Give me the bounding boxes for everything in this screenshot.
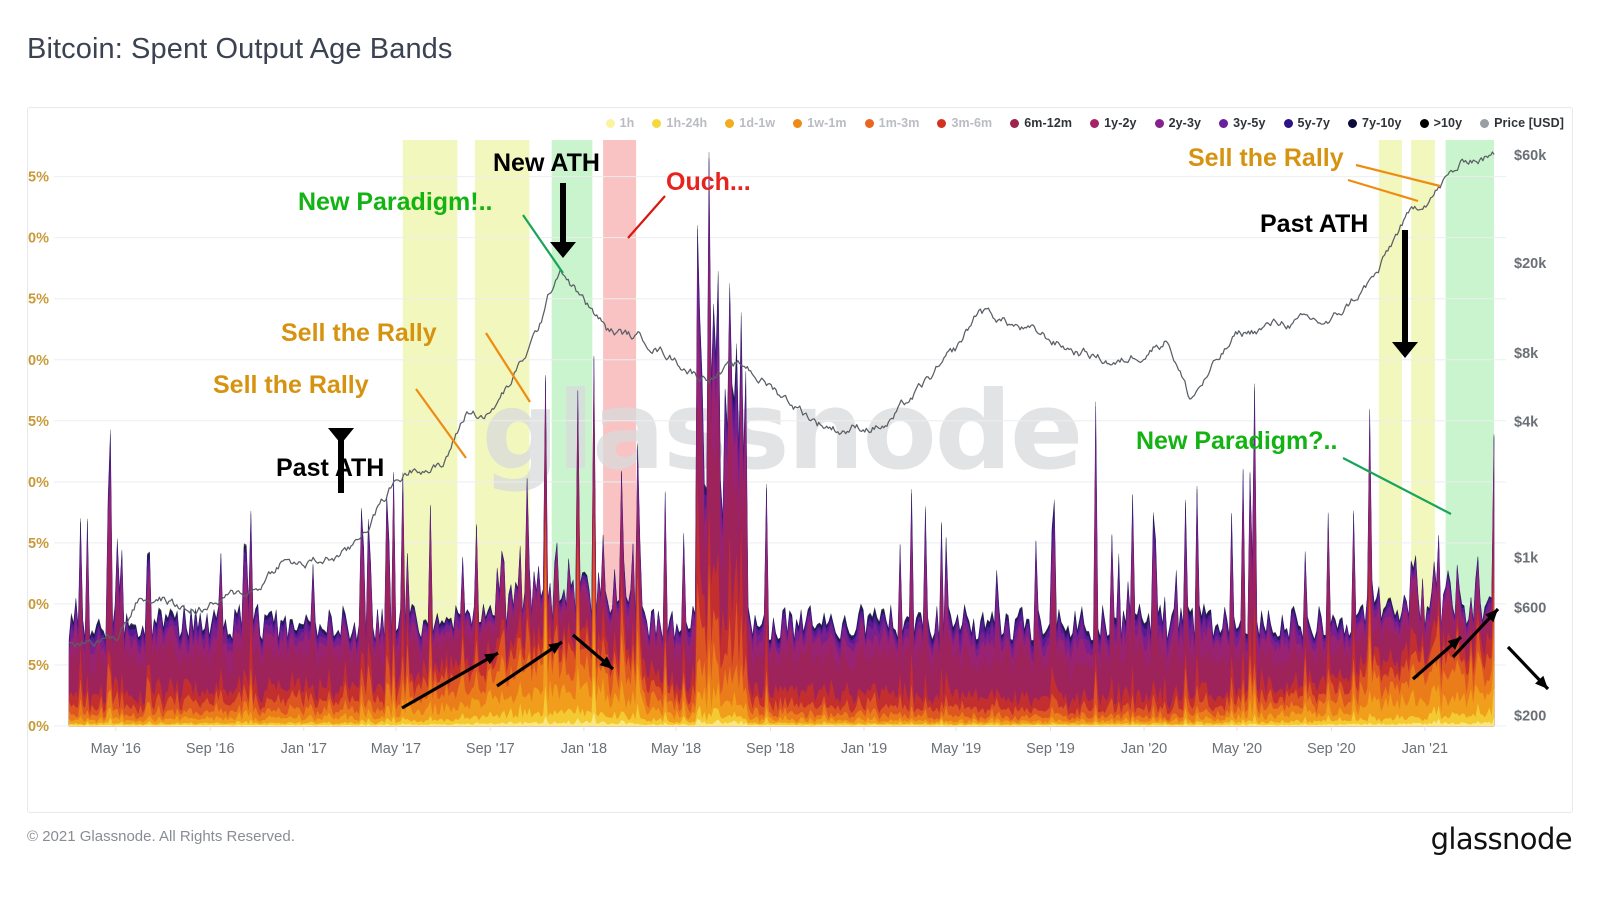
annotation-sell-rally-1: Sell the Rally <box>281 319 437 347</box>
annotation-past-ath-1: Past ATH <box>276 454 384 482</box>
y-axis-right-tick: $20k <box>1514 256 1547 272</box>
x-axis-tick: Jan '17 <box>281 741 327 757</box>
y-axis-left-tick: 30% <box>28 353 49 369</box>
x-axis-tick: Sep '18 <box>746 741 795 757</box>
y-axis-left: 0%5%10%15%20%25%30%35%40%45% <box>28 170 49 735</box>
x-axis-tick: Jan '20 <box>1121 741 1167 757</box>
x-axis-tick: Jan '19 <box>841 741 887 757</box>
chart-plot-area[interactable]: glassnode0%5%10%15%20%25%30%35%40%45%$20… <box>28 108 1572 812</box>
annotation-sell-rally-2: Sell the Rally <box>213 371 369 399</box>
x-axis-tick: Sep '20 <box>1307 741 1356 757</box>
x-axis-tick: Sep '17 <box>466 741 515 757</box>
annotation-past-ath-1-arrow-head <box>328 428 354 444</box>
x-axis-tick: Jan '18 <box>561 741 607 757</box>
y-axis-left-tick: 10% <box>28 597 49 613</box>
watermark: glassnode <box>482 369 1081 494</box>
y-axis-left-tick: 15% <box>28 536 49 552</box>
chart-page: Bitcoin: Spent Output Age Bands 1h1h-24h… <box>0 0 1600 901</box>
chart-card: 1h1h-24h1d-1w1w-1m1m-3m3m-6m6m-12m1y-2y2… <box>27 107 1573 813</box>
y-axis-right-tick: $200 <box>1514 709 1546 725</box>
spent-output-age-bands-svg[interactable]: glassnode0%5%10%15%20%25%30%35%40%45%$20… <box>28 108 1572 812</box>
annotation-new-ath: New ATH <box>493 149 600 177</box>
y-axis-right-tick: $1k <box>1514 550 1539 566</box>
annotation-new-paradigm-1: New Paradigm!.. <box>298 188 493 216</box>
x-axis-tick: Sep '16 <box>186 741 235 757</box>
y-axis-left-tick: 45% <box>28 170 49 186</box>
annotation-new-paradigm-2: New Paradigm?.. <box>1136 427 1337 455</box>
x-axis-tick: May '19 <box>931 741 981 757</box>
y-axis-left-tick: 20% <box>28 475 49 491</box>
y-axis-left-tick: 5% <box>28 658 49 674</box>
y-axis-left-tick: 25% <box>28 414 49 430</box>
watermark-text: glassnode <box>482 369 1081 494</box>
page-title: Bitcoin: Spent Output Age Bands <box>27 33 453 66</box>
y-axis-right-tick: $8k <box>1514 346 1539 362</box>
copyright-text: © 2021 Glassnode. All Rights Reserved. <box>27 828 295 845</box>
x-axis-tick: Jan '21 <box>1402 741 1448 757</box>
y-axis-right-tick: $4k <box>1514 414 1539 430</box>
x-axis-tick: May '17 <box>371 741 421 757</box>
annotation-past-ath-2: Past ATH <box>1260 210 1368 238</box>
x-axis-tick: May '20 <box>1212 741 1262 757</box>
annotation-ouch: Ouch... <box>666 168 751 196</box>
y-axis-right: $200$600$1k$4k$8k$20k$60k <box>1514 148 1547 724</box>
y-axis-left-tick: 0% <box>28 719 49 735</box>
x-axis-tick: May '16 <box>91 741 141 757</box>
glassnode-logo: glassnode <box>1431 822 1572 856</box>
x-axis: May '16Sep '16Jan '17May '17Sep '17Jan '… <box>91 726 1448 757</box>
x-axis-tick: May '18 <box>651 741 701 757</box>
y-axis-left-tick: 35% <box>28 292 49 308</box>
y-axis-right-tick: $60k <box>1514 148 1547 164</box>
annotation-sell-rally-3: Sell the Rally <box>1188 144 1344 172</box>
y-axis-left-tick: 40% <box>28 231 49 247</box>
y-axis-right-tick: $600 <box>1514 601 1546 617</box>
x-axis-tick: Sep '19 <box>1026 741 1075 757</box>
